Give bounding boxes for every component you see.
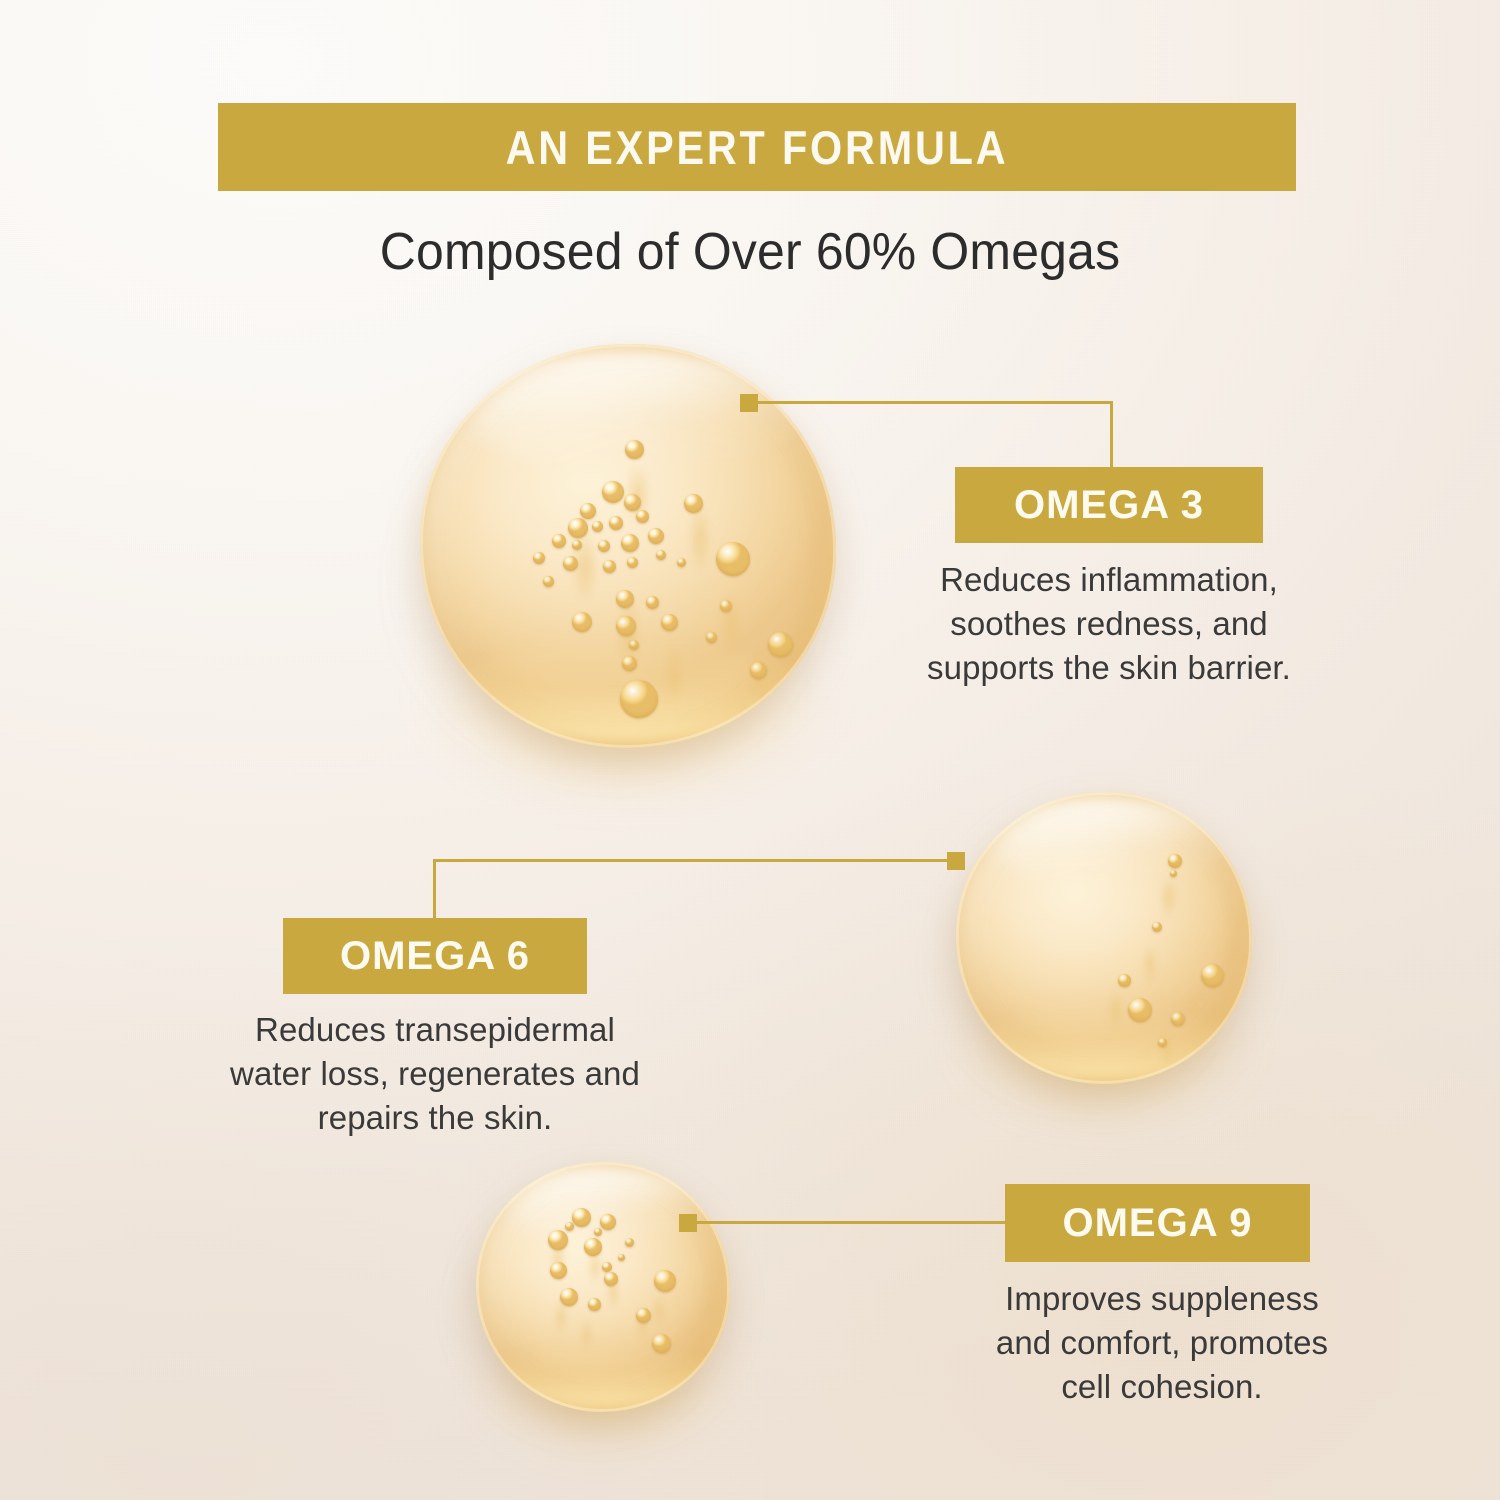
oil-droplet-omega-9 — [462, 1158, 752, 1438]
label-omega-9-text: OMEGA 9 — [1063, 1201, 1253, 1246]
description-omega-9: Improves suppleness and comfort, promote… — [962, 1277, 1362, 1410]
connector-node-omega-6 — [947, 852, 965, 870]
header-subtitle: Composed of Over 60% Omegas — [30, 222, 1470, 282]
description-omega-9-line-1: Improves suppleness — [962, 1277, 1362, 1321]
description-omega-9-line-2: and comfort, promotes — [962, 1321, 1362, 1365]
connector-line-omega-6-horizontal — [433, 859, 949, 862]
label-omega-6[interactable]: OMEGA 6 — [283, 918, 587, 994]
description-omega-6-line-2: water loss, regenerates and — [207, 1052, 663, 1096]
label-omega-6-text: OMEGA 6 — [340, 934, 530, 979]
connector-line-omega-9-horizontal — [695, 1221, 1007, 1224]
description-omega-3-line-1: Reduces inflammation, — [886, 558, 1332, 602]
connector-line-omega-3-horizontal — [756, 401, 1113, 404]
description-omega-9-line-3: cell cohesion. — [962, 1365, 1362, 1409]
infographic-canvas: AN EXPERT FORMULA Composed of Over 60% O… — [0, 0, 1500, 1500]
connector-line-omega-3-vertical — [1110, 401, 1113, 469]
description-omega-3: Reduces inflammation, soothes redness, a… — [886, 558, 1332, 691]
header-title: AN EXPERT FORMULA — [283, 103, 1232, 191]
droplet-body — [956, 792, 1252, 1084]
droplet-edge-ring — [956, 792, 1252, 1084]
description-omega-6: Reduces transepidermal water loss, regen… — [207, 1008, 663, 1141]
description-omega-3-line-2: soothes redness, and — [886, 602, 1332, 646]
droplet-edge-ring — [476, 1162, 730, 1412]
label-omega-9[interactable]: OMEGA 9 — [1005, 1184, 1310, 1262]
droplet-body — [420, 344, 836, 748]
label-omega-3[interactable]: OMEGA 3 — [955, 467, 1263, 543]
oil-droplet-omega-6 — [938, 788, 1268, 1108]
header-band: AN EXPERT FORMULA — [218, 103, 1296, 191]
description-omega-6-line-3: repairs the skin. — [207, 1096, 663, 1140]
connector-line-omega-6-vertical — [433, 859, 436, 920]
description-omega-3-line-3: supports the skin barrier. — [886, 646, 1332, 690]
droplet-body — [476, 1162, 730, 1412]
label-omega-3-text: OMEGA 3 — [1014, 483, 1204, 528]
description-omega-6-line-1: Reduces transepidermal — [207, 1008, 663, 1052]
